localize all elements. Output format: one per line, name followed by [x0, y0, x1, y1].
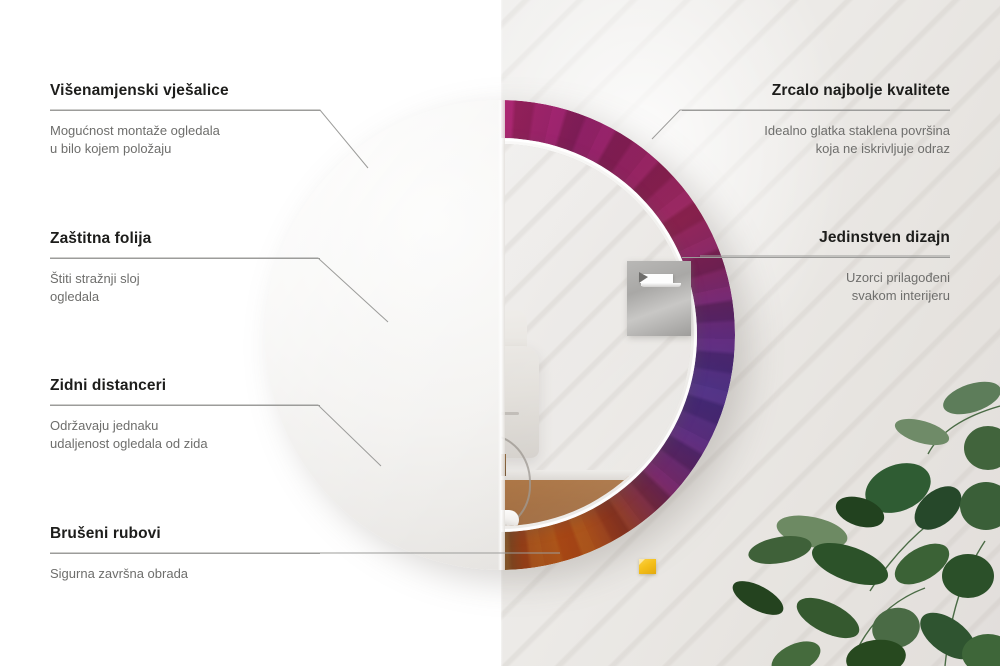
callout-hangers: Višenamjenski vješalice Mogućnost montaž… [50, 82, 320, 159]
callout-title: Brušeni rubovi [50, 525, 320, 544]
callout-title: Zidni distanceri [50, 377, 320, 396]
callout-divider [50, 110, 320, 111]
wall-spacer-hardware [639, 559, 656, 574]
mirror-half-seam [498, 100, 505, 570]
infographic-canvas: Višenamjenski vješalice Mogućnost montaž… [0, 0, 1000, 666]
callout-divider [50, 258, 320, 259]
callout-description-line: u bilo kojem položaju [50, 140, 320, 159]
callout-unique-design: Jedinstven dizajn Uzorci prilagođeni sva… [682, 229, 950, 306]
callout-divider [682, 257, 950, 258]
product-mirror [265, 100, 735, 570]
callout-description-line: koja ne iskrivljuje odraz [682, 140, 950, 159]
hanger-keyhole-slot [639, 274, 673, 283]
callout-divider [50, 553, 320, 554]
callout-title: Zaštitna folija [50, 230, 320, 249]
callout-best-quality-mirror: Zrcalo najbolje kvalitete Idealno glatka… [682, 82, 950, 159]
callout-title: Jedinstven dizajn [682, 229, 950, 248]
callout-description-line: Sigurna završna obrada [50, 565, 320, 584]
callout-description-line: Štiti stražnji sloj [50, 270, 320, 289]
callout-wall-spacers: Zidni distanceri Održavaju jednaku udalj… [50, 377, 320, 454]
callout-polished-edges: Brušeni rubovi Sigurna završna obrada [50, 525, 320, 583]
callout-description-line: udaljenost ogledala od zida [50, 435, 320, 454]
hanger-lip [641, 283, 681, 287]
callout-description-line: ogledala [50, 288, 320, 307]
callout-description-line: Mogućnost montaže ogledala [50, 122, 320, 141]
callout-protective-foil: Zaštitna folija Štiti stražnji sloj ogle… [50, 230, 320, 307]
callout-title: Višenamjenski vješalice [50, 82, 320, 101]
callout-description-line: Održavaju jednaku [50, 417, 320, 436]
callout-title: Zrcalo najbolje kvalitete [682, 82, 950, 101]
callout-description-line: Uzorci prilagođeni [682, 269, 950, 288]
callout-description-line: svakom interijeru [682, 287, 950, 306]
callout-divider [682, 110, 950, 111]
foreground-plant [700, 336, 1000, 666]
leaf-cluster [728, 375, 1000, 666]
callout-divider [50, 405, 320, 406]
callout-description-line: Idealno glatka staklena površina [682, 122, 950, 141]
reflected-throw-fringe [309, 505, 331, 526]
